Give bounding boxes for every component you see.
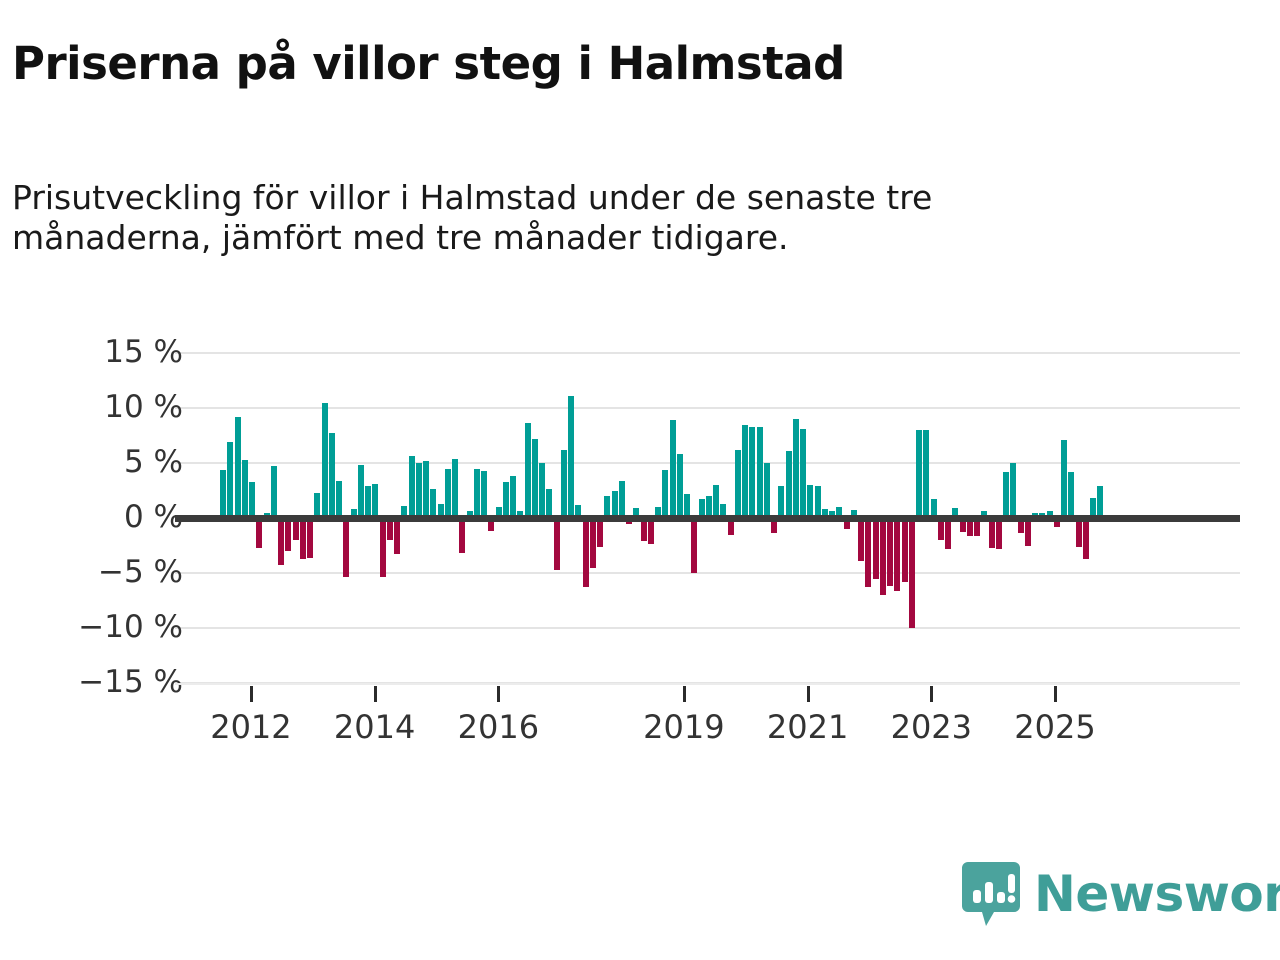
- bar: [539, 463, 545, 518]
- bar: [409, 456, 415, 518]
- zero-line: [175, 515, 1240, 522]
- bar: [1010, 463, 1016, 518]
- bar: [894, 518, 900, 591]
- page-subtitle: Prisutveckling för villor i Halmstad und…: [12, 178, 1252, 259]
- bar: [227, 442, 233, 518]
- y-axis-tick-label: −15 %: [0, 667, 183, 698]
- x-axis-tick-label: 2025: [1014, 708, 1095, 746]
- bar: [909, 518, 915, 628]
- bar: [336, 481, 342, 518]
- bar: [416, 463, 422, 518]
- bar: [873, 518, 879, 579]
- bar: [532, 439, 538, 518]
- bar: [568, 396, 574, 518]
- page-subtitle-line-2: månaderna, jämfört med tre månader tidig…: [12, 218, 1252, 258]
- bar: [670, 420, 676, 518]
- bar: [481, 471, 487, 518]
- page-subtitle-line-1: Prisutveckling för villor i Halmstad und…: [12, 178, 1252, 218]
- bar: [619, 481, 625, 518]
- bar: [945, 518, 951, 549]
- bar: [662, 470, 668, 518]
- bar: [865, 518, 871, 587]
- y-axis-tick-label: 5 %: [0, 447, 183, 478]
- bar: [423, 461, 429, 518]
- x-axis-tick-label: 2019: [643, 708, 724, 746]
- bar: [278, 518, 284, 565]
- bar: [793, 419, 799, 518]
- bar: [713, 485, 719, 518]
- x-axis-line: [175, 683, 1240, 685]
- bar: [358, 465, 364, 518]
- x-axis-tick-label: 2021: [767, 708, 848, 746]
- x-axis-tick-mark: [250, 686, 253, 702]
- y-axis-tick-label: 15 %: [0, 337, 183, 368]
- bar: [445, 469, 451, 519]
- x-axis-tick-mark: [1054, 686, 1057, 702]
- bar: [880, 518, 886, 595]
- bar: [916, 430, 922, 518]
- bar: [546, 489, 552, 518]
- newsworthy-bubble-chart-icon: [962, 862, 1020, 926]
- bar: [778, 486, 784, 518]
- y-axis-tick-label: −5 %: [0, 557, 183, 588]
- bar: [343, 518, 349, 577]
- bar: [1061, 440, 1067, 518]
- y-axis-tick-label: 10 %: [0, 392, 183, 423]
- x-axis-tick-mark: [374, 686, 377, 702]
- bar: [1003, 472, 1009, 518]
- y-axis-tick-label: 0 %: [0, 502, 183, 533]
- x-axis-tick-mark: [807, 686, 810, 702]
- bar: [612, 491, 618, 519]
- plot-area: [175, 353, 1240, 683]
- bar: [372, 484, 378, 518]
- bar: [815, 486, 821, 518]
- bar: [256, 518, 262, 548]
- bar: [583, 518, 589, 587]
- bar: [1097, 486, 1103, 518]
- x-axis-tick-label: 2016: [458, 708, 539, 746]
- bar: [380, 518, 386, 577]
- bar: [474, 469, 480, 519]
- bar: [300, 518, 306, 559]
- bar: [923, 430, 929, 518]
- bar: [757, 427, 763, 518]
- bar: [996, 518, 1002, 549]
- bar: [307, 518, 313, 558]
- bar: [989, 518, 995, 548]
- bar: [525, 423, 531, 518]
- x-axis-tick-label: 2014: [334, 708, 415, 746]
- bar: [561, 450, 567, 518]
- bar: [452, 459, 458, 518]
- bar: [691, 518, 697, 573]
- x-axis-tick-mark: [497, 686, 500, 702]
- bar: [271, 466, 277, 518]
- bar: [735, 450, 741, 518]
- bar: [858, 518, 864, 561]
- x-axis-tick-mark: [683, 686, 686, 702]
- x-axis-tick-label: 2012: [210, 708, 291, 746]
- bar: [365, 486, 371, 518]
- bar: [1068, 472, 1074, 518]
- bar: [329, 433, 335, 518]
- x-axis-tick-label: 2023: [891, 708, 972, 746]
- bar: [1076, 518, 1082, 547]
- bar: [394, 518, 400, 554]
- bar: [1083, 518, 1089, 559]
- bar: [235, 417, 241, 518]
- bar: [1025, 518, 1031, 546]
- bar: [503, 482, 509, 518]
- bar: [786, 451, 792, 518]
- bar: [597, 518, 603, 547]
- bar: [459, 518, 465, 553]
- bar: [902, 518, 908, 582]
- bar: [677, 454, 683, 518]
- bar: [322, 403, 328, 519]
- bar: [249, 482, 255, 518]
- bar: [764, 463, 770, 518]
- newsworthy-logo: Newsworthy: [962, 862, 1280, 926]
- page-title: Priserna på villor steg i Halmstad: [12, 40, 845, 87]
- bar: [242, 460, 248, 518]
- y-axis-tick-label: −10 %: [0, 612, 183, 643]
- bar: [807, 485, 813, 518]
- x-axis-tick-mark: [930, 686, 933, 702]
- bar: [220, 470, 226, 518]
- bar: [285, 518, 291, 551]
- bar: [430, 489, 436, 518]
- bar: [554, 518, 560, 570]
- bar: [742, 425, 748, 519]
- bar-chart: 15 %10 %5 %0 %−5 %−10 %−15 % 20122014201…: [0, 330, 1280, 760]
- bar: [590, 518, 596, 568]
- bar: [800, 429, 806, 518]
- bar: [887, 518, 893, 586]
- newsworthy-wordmark: Newsworthy: [1034, 869, 1280, 919]
- bar: [749, 427, 755, 518]
- bar: [510, 476, 516, 518]
